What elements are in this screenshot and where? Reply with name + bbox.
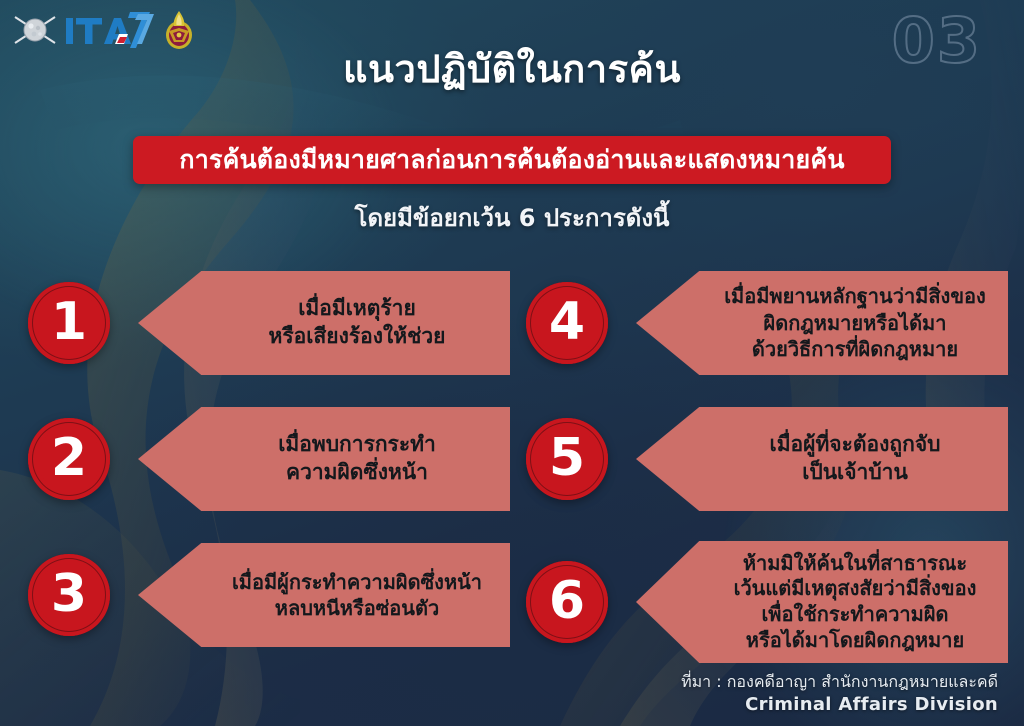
item-text-line: ความผิดซึ่งหน้า: [218, 459, 496, 487]
footer-english: Criminal Affairs Division: [681, 693, 998, 718]
item-number: 4: [549, 296, 585, 348]
item-arrow-banner: ห้ามมิให้ค้นในที่สาธารณะ เว้นแต่มีเหตุสง…: [636, 541, 1008, 663]
item-text: เมื่อมีเหตุร้าย หรือเสียงร้องให้ช่วย: [138, 295, 510, 350]
item-text-line: เว้นแต่มีเหตุสงสัยว่ามีสิ่งของ: [716, 576, 994, 602]
item-arrow-banner: เมื่อพบการกระทำ ความผิดซึ่งหน้า: [138, 407, 510, 511]
page-title: แนวปฏิบัติในการค้น: [0, 38, 1024, 99]
items-column-left: 1 เมื่อมีเหตุร้าย หรือเสียงร้องให้ช่วย 2…: [18, 255, 518, 663]
item-number-badge: 3: [28, 554, 110, 636]
item-text-line: เมื่อพบการกระทำ: [218, 431, 496, 459]
item-text-line: เมื่อมีพยานหลักฐานว่ามีสิ่งของ: [716, 283, 994, 309]
key-rule-banner: การค้นต้องมีหมายศาลก่อนการค้นต้องอ่านและ…: [133, 136, 891, 184]
item-number-badge: 5: [526, 418, 608, 500]
item-number: 5: [549, 432, 585, 484]
list-item: 3 เมื่อมีผู้กระทำความผิดซึ่งหน้า หลบหนีห…: [18, 527, 518, 663]
item-text: ห้ามมิให้ค้นในที่สาธารณะ เว้นแต่มีเหตุสง…: [636, 551, 1008, 653]
item-number-badge: 1: [28, 282, 110, 364]
item-number: 1: [51, 296, 87, 348]
subtitle: โดยมีข้อยกเว้น 6 ประการดังนี้: [0, 198, 1024, 237]
list-item: 5 เมื่อผู้ที่จะต้องถูกจับ เป็นเจ้าบ้าน: [516, 391, 1016, 527]
item-text: เมื่อพบการกระทำ ความผิดซึ่งหน้า: [138, 431, 510, 486]
item-text-line: เมื่อผู้ที่จะต้องถูกจับ: [716, 431, 994, 459]
item-number: 2: [51, 432, 87, 484]
item-number: 3: [51, 568, 87, 620]
footer-source: ที่มา : กองคดีอาญา สำนักงานกฎหมายและคดี: [681, 671, 998, 693]
item-text-line: หรือเสียงร้องให้ช่วย: [218, 323, 496, 351]
footer: ที่มา : กองคดีอาญา สำนักงานกฎหมายและคดี …: [681, 671, 998, 718]
item-text-line: เมื่อมีเหตุร้าย: [218, 295, 496, 323]
item-number-badge: 4: [526, 282, 608, 364]
item-text: เมื่อมีผู้กระทำความผิดซึ่งหน้า หลบหนีหรื…: [138, 569, 510, 622]
item-arrow-banner: เมื่อมีเหตุร้าย หรือเสียงร้องให้ช่วย: [138, 271, 510, 375]
key-rule-banner-text: การค้นต้องมีหมายศาลก่อนการค้นต้องอ่านและ…: [179, 140, 844, 180]
item-text-line: หรือได้มาโดยผิดกฎหมาย: [716, 628, 994, 654]
item-number: 6: [549, 575, 585, 627]
item-text-line: เมื่อมีผู้กระทำความผิดซึ่งหน้า: [218, 569, 496, 595]
list-item: 2 เมื่อพบการกระทำ ความผิดซึ่งหน้า: [18, 391, 518, 527]
list-item: 4 เมื่อมีพยานหลักฐานว่ามีสิ่งของ ผิดกฎหม…: [516, 255, 1016, 391]
item-arrow-banner: เมื่อมีพยานหลักฐานว่ามีสิ่งของ ผิดกฎหมาย…: [636, 271, 1008, 375]
item-text-line: ผิดกฎหมายหรือได้มา: [716, 310, 994, 336]
list-item: 6 ห้ามมิให้ค้นในที่สาธารณะ เว้นแต่มีเหตุ…: [516, 527, 1016, 677]
infographic-slide: 03 แนวปฏิบัติในการค้น การค้นต้องมีหมายศา…: [0, 0, 1024, 726]
item-number-badge: 6: [526, 561, 608, 643]
items-column-right: 4 เมื่อมีพยานหลักฐานว่ามีสิ่งของ ผิดกฎหม…: [516, 255, 1016, 677]
item-text: เมื่อมีพยานหลักฐานว่ามีสิ่งของ ผิดกฎหมาย…: [636, 283, 1008, 362]
item-number-badge: 2: [28, 418, 110, 500]
item-text-line: เป็นเจ้าบ้าน: [716, 459, 994, 487]
item-arrow-banner: เมื่อผู้ที่จะต้องถูกจับ เป็นเจ้าบ้าน: [636, 407, 1008, 511]
item-text-line: ด้วยวิธีการที่ผิดกฎหมาย: [716, 336, 994, 362]
item-arrow-banner: เมื่อมีผู้กระทำความผิดซึ่งหน้า หลบหนีหรื…: [138, 543, 510, 647]
item-text-line: หลบหนีหรือซ่อนตัว: [218, 595, 496, 621]
item-text: เมื่อผู้ที่จะต้องถูกจับ เป็นเจ้าบ้าน: [636, 431, 1008, 486]
item-text-line: เพื่อใช้กระทำความผิด: [716, 602, 994, 628]
item-text-line: ห้ามมิให้ค้นในที่สาธารณะ: [716, 551, 994, 577]
list-item: 1 เมื่อมีเหตุร้าย หรือเสียงร้องให้ช่วย: [18, 255, 518, 391]
